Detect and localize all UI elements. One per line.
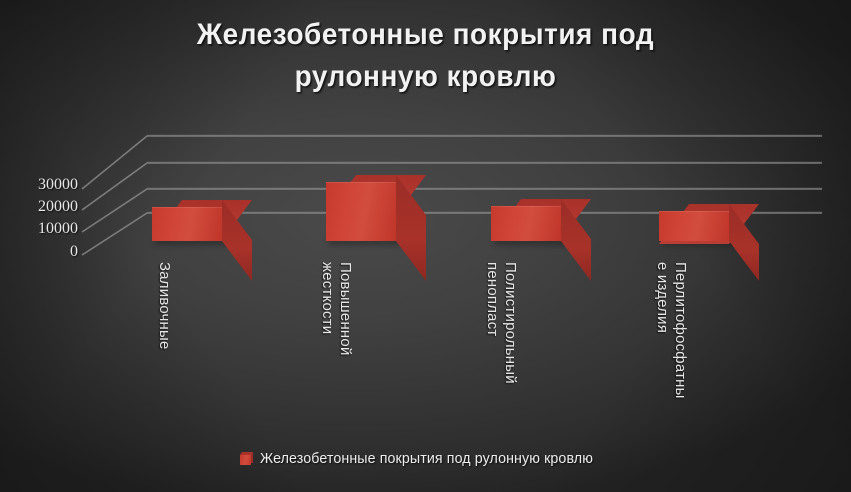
category-label-0-line-0: Заливочные	[156, 262, 173, 350]
legend-swatch-side	[251, 453, 253, 463]
y-tick-label: 10000	[0, 220, 78, 238]
y-tick-label: 0	[0, 243, 78, 261]
category-label-2-line-0: Полистирольный	[502, 262, 519, 384]
bar-front-face	[491, 206, 561, 241]
y-tick-label: 20000	[0, 198, 78, 216]
bar-front-face	[326, 182, 396, 241]
chart-legend: Железобетонные покрытия под рулонную кро…	[0, 450, 851, 467]
category-label-2-line-1: пенопласт	[484, 262, 501, 336]
y-tick-label: 30000	[0, 176, 78, 194]
bar-front-face	[152, 207, 222, 241]
legend-swatch-icon	[240, 452, 253, 465]
category-label-3-line-0: Перлитофосфатны	[672, 262, 689, 399]
category-label-3-line-1: е изделия	[654, 262, 671, 333]
bar-front-face	[659, 211, 729, 241]
chart-container: Железобетонные покрытия под рулонную кро…	[0, 0, 851, 492]
y-axis-ticks: 30000 20000 10000 0	[0, 0, 78, 492]
category-label-1-line-0: Повышенной	[337, 262, 354, 356]
plot-area: 30000 20000 10000 0	[0, 0, 851, 492]
category-label-1-line-1: жесткости	[319, 262, 336, 334]
legend-swatch-front	[240, 455, 251, 465]
legend-label[interactable]: Железобетонные покрытия под рулонную кро…	[260, 450, 593, 467]
